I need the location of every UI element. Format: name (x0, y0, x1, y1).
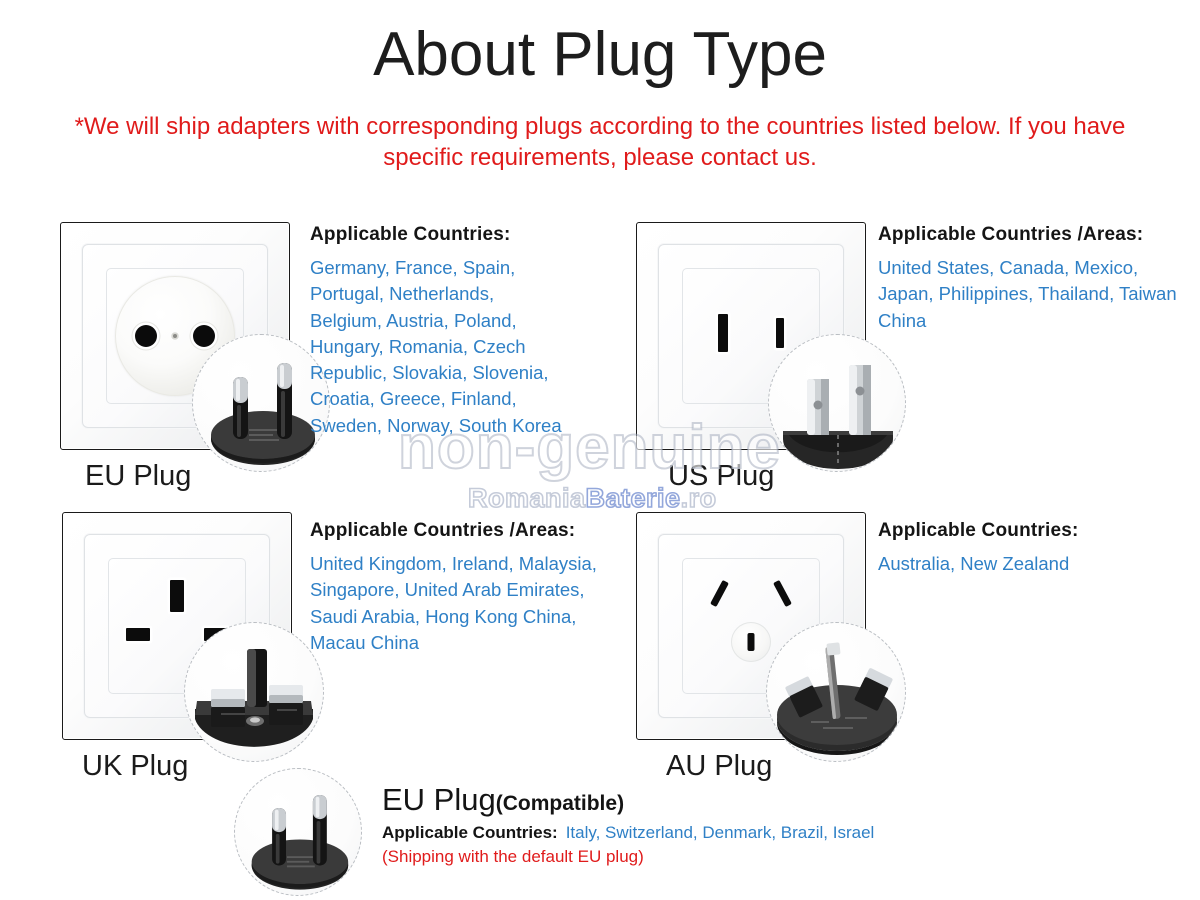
plug-type-infographic: About Plug Type *We will ship adapters w… (0, 0, 1200, 900)
plug-label-au: AU Plug (666, 750, 772, 783)
au-plug-drawing (767, 623, 906, 762)
compatible-heading: Applicable Countries: (382, 823, 558, 842)
plug-card-us: US Plug (636, 222, 866, 450)
compatible-title-main: EU Plug (382, 782, 496, 817)
page-subtitle-note: *We will ship adapters with correspondin… (60, 112, 1140, 173)
uk-plug-drawing (185, 623, 324, 762)
eu-pin-hole-right (193, 325, 215, 347)
us-plug-drawing (769, 335, 906, 472)
plug-info-us: Applicable Countries /Areas: United Stat… (878, 224, 1178, 334)
info-heading-uk: Applicable Countries /Areas: (310, 520, 610, 542)
country-list-eu: Germany, France, Spain, Portugal, Nether… (310, 255, 570, 439)
uk-plug-icon (184, 622, 324, 762)
plug-label-uk: UK Plug (82, 750, 188, 783)
uk-slot-neutral (126, 628, 150, 641)
compatible-info: EU Plug(Compatible) Applicable Countries… (382, 782, 874, 867)
au-plug-icon (766, 622, 906, 762)
watermark-site-prefix: Romania (468, 483, 586, 513)
compatible-countries-line: Applicable Countries:Italy, Switzerland,… (382, 823, 874, 843)
plug-info-au: Applicable Countries: Australia, New Zea… (878, 520, 1178, 577)
eu-center-pin (172, 333, 179, 340)
us-slot-live (776, 318, 784, 348)
compatible-title: EU Plug(Compatible) (382, 782, 874, 818)
info-heading-us: Applicable Countries /Areas: (878, 224, 1178, 246)
au-slot-neutral (773, 580, 792, 607)
au-slot-active (710, 580, 729, 607)
eu-plug-drawing (235, 769, 362, 896)
country-list-uk: United Kingdom, Ireland, Malaysia, Singa… (310, 551, 610, 656)
plug-info-uk: Applicable Countries /Areas: United King… (310, 520, 610, 656)
eu-plug-icon (234, 768, 362, 896)
compatible-title-suffix: (Compatible) (496, 792, 624, 815)
compatible-shipping-note: (Shipping with the default EU plug) (382, 847, 874, 867)
compatible-plug-thumb (234, 768, 362, 896)
country-list-au: Australia, New Zealand (878, 551, 1178, 577)
uk-slot-earth (170, 580, 184, 612)
plug-card-au: AU Plug (636, 512, 866, 740)
country-list-us: United States, Canada, Mexico, Japan, Ph… (878, 255, 1178, 334)
plug-label-eu: EU Plug (85, 460, 191, 493)
us-slot-neutral (718, 314, 728, 352)
plug-card-eu: EU Plug (60, 222, 290, 450)
info-heading-eu: Applicable Countries: (310, 224, 570, 246)
watermark-site-highlight: Baterie (586, 483, 681, 513)
us-plug-icon (768, 334, 906, 472)
plug-card-uk: UK Plug (62, 512, 292, 740)
au-slot-earth (748, 633, 755, 651)
plug-info-eu: Applicable Countries: Germany, France, S… (310, 224, 570, 439)
info-heading-au: Applicable Countries: (878, 520, 1178, 542)
plug-label-us: US Plug (668, 460, 774, 493)
compatible-country-list: Italy, Switzerland, Denmark, Brazil, Isr… (566, 823, 875, 842)
page-title: About Plug Type (0, 22, 1200, 87)
eu-pin-hole-left (135, 325, 157, 347)
